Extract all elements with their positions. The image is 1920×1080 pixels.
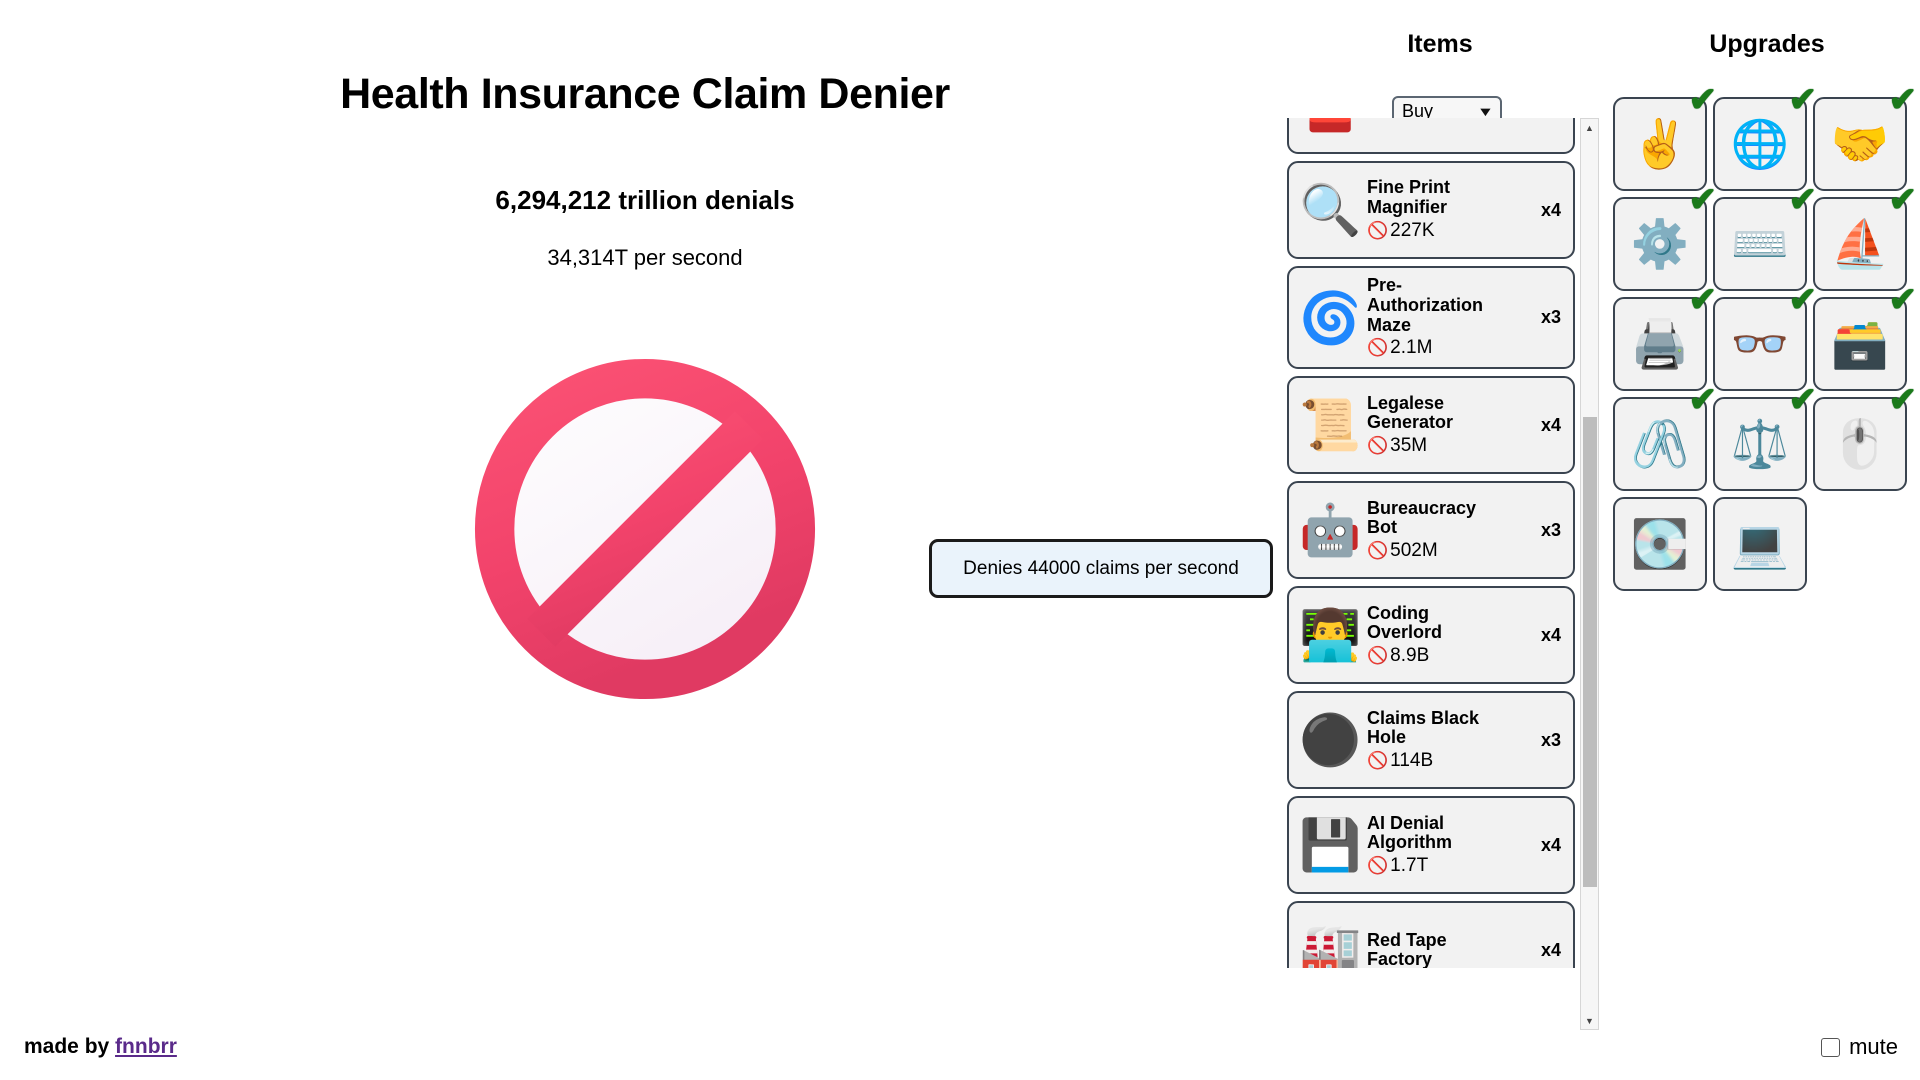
item-name: Fine Print Magnifier	[1367, 178, 1492, 218]
item-cost: 🚫2.1M	[1367, 337, 1535, 359]
items-panel-header: Items	[1285, 30, 1595, 59]
prohibited-currency-icon: 🚫	[1367, 436, 1388, 456]
gear-icon: ⚙️	[1631, 216, 1690, 272]
item-name: Pre-Authorization Maze	[1367, 276, 1492, 335]
prohibited-currency-icon: 🚫	[1367, 856, 1388, 876]
item-name: Bureaucracy Bot	[1367, 499, 1492, 539]
checkmark-icon: ✔	[1889, 83, 1918, 117]
item-details: Bureaucracy Bot🚫502M	[1361, 499, 1537, 563]
factory-icon: 🏭	[1299, 919, 1361, 968]
item-cost: 🚫1.7T	[1367, 855, 1535, 877]
page-title: Health Insurance Claim Denier	[318, 70, 972, 119]
upgrade-cell[interactable]: ⚖️✔	[1713, 397, 1807, 491]
upgrade-cell[interactable]: 💻	[1713, 497, 1807, 591]
tooltip-text: Denies 44000 claims per second	[963, 558, 1239, 580]
item-cost-value: 1.7T	[1390, 855, 1428, 877]
eyeglasses-icon: 👓	[1731, 316, 1790, 372]
item-cost: 🚫114B	[1367, 750, 1535, 772]
item-details: Coding Overlord🚫8.9B	[1361, 604, 1537, 668]
mute-checkbox[interactable]	[1821, 1038, 1840, 1057]
upgrade-cell[interactable]: 🖨️✔	[1613, 297, 1707, 391]
upgrades-grid: ✌️✔🌐✔🤝✔⚙️✔⌨️✔⛵✔🖨️✔👓✔🗃️✔🖇️✔⚖️✔🖱️✔💽💻	[1613, 97, 1913, 591]
item-cost-value: 2.1M	[1390, 337, 1432, 359]
scrollbar-thumb[interactable]	[1583, 417, 1597, 887]
upgrade-cell[interactable]: 🌐✔	[1713, 97, 1807, 191]
upgrade-cell[interactable]: ⌨️✔	[1713, 197, 1807, 291]
sailboat-icon: ⛵	[1831, 216, 1890, 272]
upgrade-cell[interactable]: 🖇️✔	[1613, 397, 1707, 491]
victory-hand-icon: ✌️	[1631, 116, 1690, 172]
keyboard-icon: ⌨️	[1731, 216, 1790, 272]
item-name: Coding Overlord	[1367, 604, 1492, 644]
upgrades-panel-header: Upgrades	[1612, 30, 1920, 59]
balance-scale-icon: ⚖️	[1731, 416, 1790, 472]
credit-prefix: made by	[24, 1035, 115, 1058]
item-card[interactable]: ☎️🚫18Kx3	[1287, 118, 1575, 154]
clicker-button[interactable]	[466, 350, 824, 708]
upgrade-cell[interactable]: ✌️✔	[1613, 97, 1707, 191]
prohibited-currency-icon: 🚫	[1367, 646, 1388, 666]
items-panel: ☎️🚫18Kx3🔍Fine Print Magnifier🚫227Kx4🌀Pre…	[1287, 118, 1599, 1030]
upgrade-cell[interactable]: 🤝✔	[1813, 97, 1907, 191]
item-card[interactable]: ⚫Claims Black Hole🚫114Bx3	[1287, 691, 1575, 789]
item-owned-count: x3	[1537, 520, 1565, 541]
item-tooltip: Denies 44000 claims per second	[929, 539, 1273, 598]
item-owned-count: x4	[1537, 415, 1565, 436]
prohibited-currency-icon: 🚫	[1367, 338, 1388, 358]
item-details: AI Denial Algorithm🚫1.7T	[1361, 814, 1537, 878]
upgrade-cell[interactable]: ⛵✔	[1813, 197, 1907, 291]
item-cost-value: 114B	[1390, 750, 1433, 772]
mute-control[interactable]: mute	[1821, 1034, 1898, 1060]
item-cost: 🚫227K	[1367, 220, 1535, 242]
upgrade-cell[interactable]: ⚙️✔	[1613, 197, 1707, 291]
scroll-icon: 📜	[1299, 394, 1361, 456]
robot-icon: 🤖	[1299, 499, 1361, 561]
item-cost: 🚫35M	[1367, 435, 1535, 457]
item-card[interactable]: 🤖Bureaucracy Bot🚫502Mx3	[1287, 481, 1575, 579]
item-owned-count: x4	[1537, 835, 1565, 856]
chevron-down-icon: ▼	[1477, 104, 1494, 119]
scroll-up-arrow-icon[interactable]: ▲	[1581, 119, 1598, 136]
upgrade-cell[interactable]: 🗃️✔	[1813, 297, 1907, 391]
credit-link[interactable]: fnnbrr	[115, 1035, 177, 1058]
floppy-disk-icon: 💾	[1299, 814, 1361, 876]
item-details: Pre-Authorization Maze🚫2.1M	[1361, 276, 1537, 359]
item-details: Fine Print Magnifier🚫227K	[1361, 178, 1537, 242]
globe-with-meridians-icon: 🌐	[1731, 116, 1790, 172]
item-owned-count: x4	[1537, 625, 1565, 646]
item-owned-count: x3	[1537, 307, 1565, 328]
spiral-icon: 🌀	[1299, 287, 1361, 349]
telephone-icon: ☎️	[1299, 118, 1361, 136]
items-scrollbar[interactable]: ▲ ▼	[1580, 118, 1599, 1030]
item-card[interactable]: 🔍Fine Print Magnifier🚫227Kx4	[1287, 161, 1575, 259]
scroll-down-arrow-icon[interactable]: ▼	[1581, 1012, 1598, 1029]
items-list[interactable]: ☎️🚫18Kx3🔍Fine Print Magnifier🚫227Kx4🌀Pre…	[1287, 118, 1577, 968]
item-details: Legalese Generator🚫35M	[1361, 394, 1537, 458]
item-cost-value: 35M	[1390, 435, 1427, 457]
black-circle-icon: ⚫	[1299, 709, 1361, 771]
prohibited-sign-icon	[466, 350, 824, 708]
computer-disk-icon: 💽	[1631, 516, 1690, 572]
item-name: Claims Black Hole	[1367, 709, 1492, 749]
item-cost: 🚫8.9B	[1367, 645, 1535, 667]
item-details: Red Tape Factory	[1361, 931, 1537, 968]
item-cost-value: 502M	[1390, 540, 1438, 562]
item-owned-count: x3	[1537, 730, 1565, 751]
printer-icon: 🖨️	[1631, 316, 1690, 372]
item-name: Red Tape Factory	[1367, 931, 1492, 968]
item-owned-count: x4	[1537, 940, 1565, 961]
item-name: AI Denial Algorithm	[1367, 814, 1492, 854]
game-root: Health Insurance Claim Denier 6,294,212 …	[0, 0, 1920, 1080]
credit-text: made by fnnbrr	[24, 1035, 177, 1059]
upgrade-cell[interactable]: 👓✔	[1713, 297, 1807, 391]
item-owned-count: x4	[1537, 200, 1565, 221]
upgrade-cell[interactable]: 💽	[1613, 497, 1707, 591]
linked-paperclips-icon: 🖇️	[1631, 416, 1690, 472]
handshake-icon: 🤝	[1831, 116, 1890, 172]
item-cost-value: 8.9B	[1390, 645, 1429, 667]
item-card[interactable]: 👨‍💻Coding Overlord🚫8.9Bx4	[1287, 586, 1575, 684]
prohibited-currency-icon: 🚫	[1367, 541, 1388, 561]
prohibited-currency-icon: 🚫	[1367, 221, 1388, 241]
item-cost-value: 227K	[1390, 220, 1434, 242]
upgrade-cell[interactable]: 🖱️✔	[1813, 397, 1907, 491]
computer-mouse-icon: 🖱️	[1831, 416, 1890, 472]
item-details: Claims Black Hole🚫114B	[1361, 709, 1537, 773]
item-card[interactable]: 💾AI Denial Algorithm🚫1.7Tx4	[1287, 796, 1575, 894]
prohibited-currency-icon: 🚫	[1367, 751, 1388, 771]
laptop-icon: 💻	[1731, 516, 1790, 572]
item-card[interactable]: 🌀Pre-Authorization Maze🚫2.1Mx3	[1287, 266, 1575, 369]
denials-per-second: 34,314T per second	[318, 245, 972, 271]
item-cost: 🚫502M	[1367, 540, 1535, 562]
denial-count: 6,294,212 trillion denials	[318, 185, 972, 216]
card-file-box-icon: 🗃️	[1831, 316, 1890, 372]
item-name: Legalese Generator	[1367, 394, 1492, 434]
item-card[interactable]: 📜Legalese Generator🚫35Mx4	[1287, 376, 1575, 474]
technologist-icon: 👨‍💻	[1299, 604, 1361, 666]
item-card[interactable]: 🏭Red Tape Factoryx4	[1287, 901, 1575, 968]
magnifying-glass-icon: 🔍	[1299, 179, 1361, 241]
mute-label: mute	[1849, 1034, 1898, 1060]
